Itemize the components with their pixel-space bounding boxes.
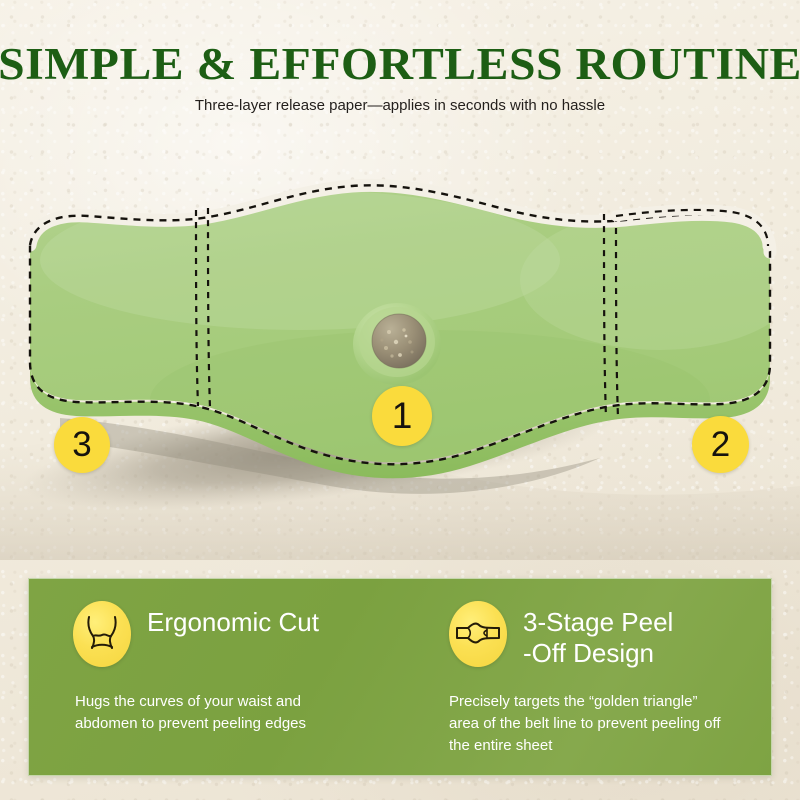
- step-badge-3[interactable]: 3: [54, 417, 110, 473]
- feature-ergonomic-cut: Ergonomic Cut Hugs the curves of your wa…: [73, 579, 403, 775]
- waist-torso-icon: [73, 601, 131, 667]
- feature-body-ergonomic-cut: Hugs the curves of your waist and abdome…: [75, 691, 306, 735]
- feature-body-peel-off-design: Precisely targets the “golden triangle” …: [449, 691, 721, 757]
- product-illustration: [0, 150, 800, 560]
- product-infographic: SIMPLE & EFFORTLESS ROUTINE Three-layer …: [0, 0, 800, 800]
- feature-peel-off-design: 3-Stage Peel -Off Design Precisely targe…: [449, 579, 769, 775]
- belt-peel-icon: [449, 601, 507, 667]
- feature-heading-row: Ergonomic Cut: [73, 601, 319, 667]
- feature-title-ergonomic-cut: Ergonomic Cut: [147, 601, 319, 638]
- step-badge-1[interactable]: 1: [372, 386, 432, 446]
- belt-peel-glyph: [454, 617, 502, 651]
- feature-heading-row: 3-Stage Peel -Off Design: [449, 601, 673, 669]
- feature-panel: Ergonomic Cut Hugs the curves of your wa…: [28, 578, 772, 776]
- product-image: 1 2 3: [0, 150, 800, 560]
- waist-torso-glyph: [80, 614, 124, 654]
- page-subtitle: Three-layer release paper—applies in sec…: [0, 95, 800, 117]
- page-title: SIMPLE & EFFORTLESS ROUTINE: [0, 38, 800, 90]
- feature-title-peel-off-design: 3-Stage Peel -Off Design: [523, 601, 673, 669]
- herbal-applicator-disc: [353, 303, 441, 385]
- step-badge-2[interactable]: 2: [692, 416, 749, 473]
